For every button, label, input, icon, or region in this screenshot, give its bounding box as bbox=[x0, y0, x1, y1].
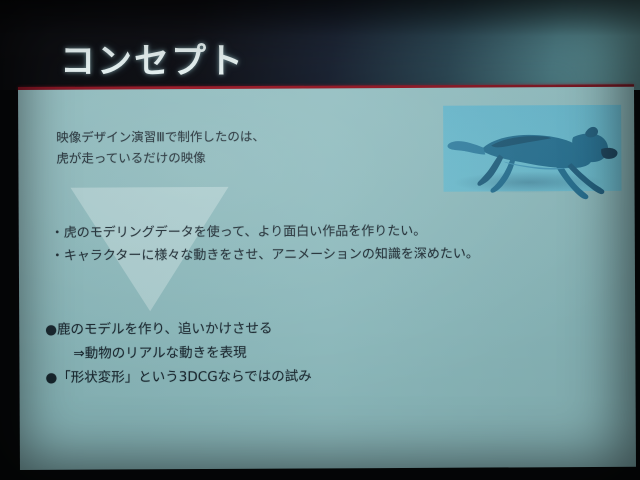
plan-bullet-1: ●鹿のモデルを作り、追いかけさせる bbox=[45, 316, 311, 341]
goal-bullet-2: ・キャラクターに様々な動きをさせ、アニメーションの知識を深めたい。 bbox=[51, 243, 479, 268]
slide-content-area: 映像デザイン演習Ⅲで制作したのは、 虎が走っているだけの映像 ・虎のモデリングデ… bbox=[18, 87, 636, 470]
intro-line-2: 虎が走っているだけの映像 bbox=[56, 147, 265, 169]
goals-text-block: ・虎のモデリングデータを使って、より面白い作品を作りたい。 ・キャラクターに様々… bbox=[51, 220, 479, 268]
page-title: コンセプト bbox=[60, 33, 245, 84]
plan-bullet-2: ●「形状変形」という3DCGならではの試み bbox=[45, 364, 311, 389]
projected-slide-photo: コンセプト 映像デザイン演習Ⅲで制作したのは、 虎が走っているだけの映像 ・虎の… bbox=[0, 0, 640, 480]
plan-sub-line: ⇒動物のリアルな動きを表現 bbox=[45, 340, 311, 365]
tiger-render-figure bbox=[443, 105, 621, 192]
intro-line-1: 映像デザイン演習Ⅲで制作したのは、 bbox=[56, 126, 265, 148]
goal-bullet-1: ・虎のモデリングデータを使って、より面白い作品を作りたい。 bbox=[51, 220, 479, 245]
plan-text-block: ●鹿のモデルを作り、追いかけさせる ⇒動物のリアルな動きを表現 ●「形状変形」と… bbox=[45, 316, 312, 389]
intro-text-block: 映像デザイン演習Ⅲで制作したのは、 虎が走っているだけの映像 bbox=[56, 126, 265, 169]
running-tiger-icon bbox=[445, 111, 622, 210]
